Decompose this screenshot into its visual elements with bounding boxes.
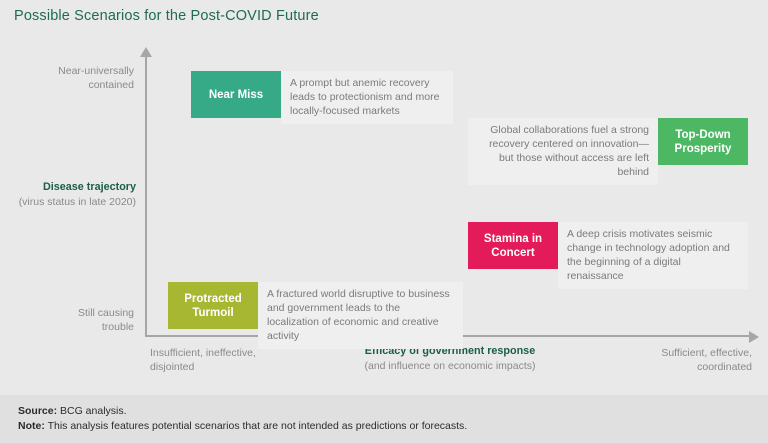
x-axis-tick-left: Insufficient, ineffective, disjointed [150,346,320,374]
y-axis-tick-top-line2: contained [88,79,134,91]
y-axis-tick-bottom: Still causing trouble [14,306,134,334]
footer-source-label: Source: [18,405,57,417]
scenario-stamina-in-concert[interactable]: Stamina in Concert A deep crisis motivat… [468,222,748,289]
scenario-near-miss-description: A prompt but anemic recovery leads to pr… [281,71,453,124]
footer-note-label: Note: [18,420,45,432]
footer-note-text: This analysis features potential scenari… [48,420,468,432]
scenario-protracted-turmoil[interactable]: Protracted Turmoil A fractured world dis… [168,282,463,349]
up-arrow-icon [140,47,152,57]
scenario-protracted-turmoil-label: Protracted Turmoil [168,282,258,329]
y-axis-title-main: Disease trajectory [0,180,136,195]
scenario-matrix-plot: Near-universally contained Still causing… [0,40,768,390]
y-axis-title: Disease trajectory (virus status in late… [0,180,136,210]
scenario-stamina-in-concert-label: Stamina in Concert [468,222,558,269]
scenario-protracted-turmoil-description: A fractured world disruptive to business… [258,282,463,349]
y-axis-tick-bottom-line2: trouble [102,321,134,333]
footer-source-text: BCG analysis. [60,405,127,417]
page-title: Possible Scenarios for the Post-COVID Fu… [14,8,319,24]
scenario-near-miss[interactable]: Near Miss A prompt but anemic recovery l… [191,71,453,124]
scenario-matrix-page: Possible Scenarios for the Post-COVID Fu… [0,0,768,443]
scenario-stamina-in-concert-description: A deep crisis motivates seismic change i… [558,222,748,289]
y-axis-title-sub: (virus status in late 2020) [0,195,136,210]
footer-note: Note: This analysis features potential s… [18,419,467,433]
y-axis-tick-top-line1: Near-universally [58,65,134,77]
x-axis-tick-right-line1: Sufficient, effective, [661,347,752,359]
x-axis-title-sub: (and influence on economic impacts) [300,359,600,374]
scenario-top-down-prosperity-label: Top-Down Prosperity [658,118,748,165]
scenario-near-miss-label: Near Miss [191,71,281,118]
x-axis-tick-right-line2: coordinated [697,361,752,373]
scenario-top-down-prosperity[interactable]: Top-Down Prosperity Global collaboration… [468,118,748,185]
y-axis-line [145,56,147,336]
scenario-top-down-prosperity-description: Global collaborations fuel a strong reco… [468,118,658,185]
x-axis-tick-left-line2: disjointed [150,361,194,373]
right-arrow-icon [749,331,759,343]
y-axis-tick-top: Near-universally contained [14,64,134,92]
y-axis-tick-bottom-line1: Still causing [78,307,134,319]
footer-source: Source: BCG analysis. [18,404,127,418]
x-axis-tick-right: Sufficient, effective, coordinated [600,346,752,374]
footer: Source: BCG analysis. Note: This analysi… [0,395,768,443]
